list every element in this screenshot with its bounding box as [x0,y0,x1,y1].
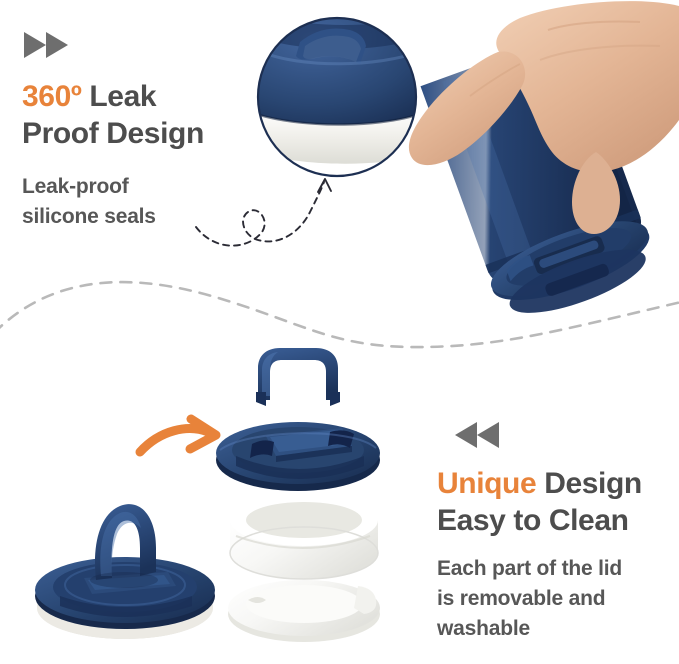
infographic-canvas: 360º Leak Proof Design Leak-proof silico… [0,0,679,664]
white-gasket-disc [228,580,380,642]
lid-seal-closeup-inset [250,10,430,176]
orange-curved-arrow-icon [140,419,216,452]
navy-handle-clip [256,348,340,406]
hand-shape [409,1,679,234]
fast-forward-icon [22,28,70,58]
navy-lid-disc [216,422,380,491]
assembled-lid-photo [35,504,215,639]
exploded-lid-photo [216,348,380,642]
rewind-icon [437,418,485,448]
leak-proof-subtext: Leak-proof silicone seals [22,172,242,232]
dashed-wave-divider [0,282,679,347]
easy-to-clean-headline-accent: Unique [437,467,536,500]
easy-to-clean-subtext: Each part of the lid is removable and wa… [437,554,677,643]
leak-proof-headline: 360º Leak Proof Design [22,79,272,152]
leak-proof-headline-accent: 360º [22,80,81,113]
easy-to-clean-headline: Unique Design Easy to Clean [437,466,672,539]
hand-holding-tumbler-photo [409,1,679,326]
white-collar-ring [230,494,378,579]
